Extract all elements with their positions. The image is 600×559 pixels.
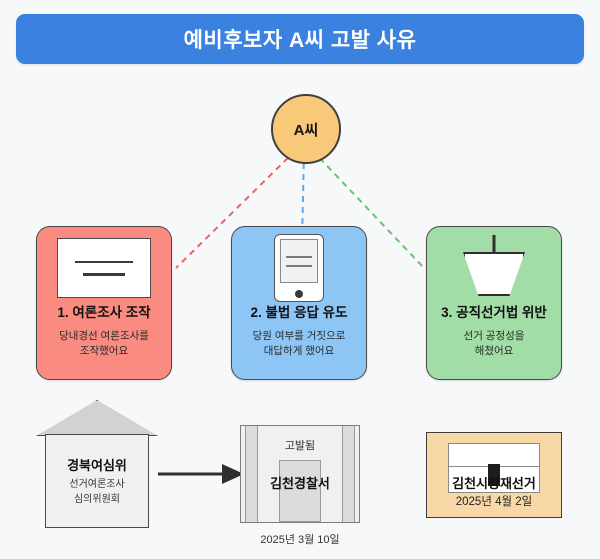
reason-card-1: 1. 여론조사 조작 당내경선 여론조사를 조작했어요 xyxy=(36,226,172,380)
tablet-icon-line-1 xyxy=(286,256,312,258)
police-report-date: 2025년 3월 10일 xyxy=(240,531,360,547)
page-title: 예비후보자 A씨 고발 사유 xyxy=(184,24,417,54)
committee-subtitle: 선거여론조사 심의위원회 xyxy=(69,477,124,507)
tablet-icon-screen xyxy=(280,239,318,283)
reason-card-2: 2. 불법 응답 유도 당원 여부를 거짓으로 대답하게 했어요 xyxy=(231,226,367,380)
reason-card-1-desc-line-1: 당내경선 여론조사를 xyxy=(59,329,149,344)
page-title-banner: 예비후보자 A씨 고발 사유 xyxy=(16,14,584,64)
reason-card-2-title: 2. 불법 응답 유도 xyxy=(250,306,347,320)
committee-subtitle-line-2: 심의위원회 xyxy=(69,492,124,507)
center-node-person: A씨 xyxy=(271,94,341,164)
reason-card-2-desc-line-1: 당원 여부를 거짓으로 xyxy=(253,329,346,344)
police-station-building: 고발됨 김천경찰서 xyxy=(240,425,360,523)
committee-name: 경북여심위 xyxy=(67,455,127,474)
report-status-label: 고발됨 xyxy=(241,437,359,453)
reason-card-3: 3. 공직선거법 위반 선거 공정성을 해쳤어요 xyxy=(426,226,562,380)
reason-card-1-desc: 당내경선 여론조사를 조작했어요 xyxy=(59,329,149,359)
reason-card-1-desc-line-2: 조작했어요 xyxy=(59,344,149,359)
tablet-icon-home-button xyxy=(295,290,303,298)
election-date: 2025년 4월 2일 xyxy=(427,493,561,509)
document-icon-line-1 xyxy=(75,261,133,264)
reason-card-2-desc-line-2: 대답하게 했어요 xyxy=(253,344,346,359)
center-node-label: A씨 xyxy=(294,119,319,140)
committee-building: 경북여심위 선거여론조사 심의위원회 xyxy=(36,400,158,528)
tablet-icon-line-2 xyxy=(286,265,312,267)
reason-card-3-desc-line-1: 선거 공정성을 xyxy=(464,329,525,344)
reason-card-3-title: 3. 공직선거법 위반 xyxy=(441,306,547,320)
document-icon xyxy=(57,238,151,298)
reason-card-1-icon-wrap xyxy=(57,231,151,305)
committee-building-body: 경북여심위 선거여론조사 심의위원회 xyxy=(45,434,149,528)
ballot-funnel-icon xyxy=(463,235,525,301)
committee-building-roof xyxy=(36,400,158,436)
tablet-icon xyxy=(274,234,324,302)
police-station-name: 김천경찰서 xyxy=(241,473,359,492)
election-name: 김천시장재선거 xyxy=(427,473,561,492)
committee-subtitle-line-1: 선거여론조사 xyxy=(69,477,124,492)
reason-card-3-icon-wrap xyxy=(463,231,525,305)
reason-card-2-icon-wrap xyxy=(274,231,324,305)
election-box: 김천시장재선거 2025년 4월 2일 xyxy=(426,432,562,518)
infographic-canvas: 예비후보자 A씨 고발 사유 A씨 1. 여론조사 조작 당내경선 여론조사를 … xyxy=(0,0,600,559)
reason-card-3-desc: 선거 공정성을 해쳤어요 xyxy=(464,329,525,359)
ballot-funnel-icon-stem xyxy=(493,235,496,253)
reason-card-3-desc-line-2: 해쳤어요 xyxy=(464,344,525,359)
document-icon-line-2 xyxy=(83,273,125,276)
reason-card-2-desc: 당원 여부를 거짓으로 대답하게 했어요 xyxy=(253,329,346,359)
ballot-funnel-icon-cup xyxy=(463,252,525,296)
reason-card-1-title: 1. 여론조사 조작 xyxy=(57,306,150,320)
